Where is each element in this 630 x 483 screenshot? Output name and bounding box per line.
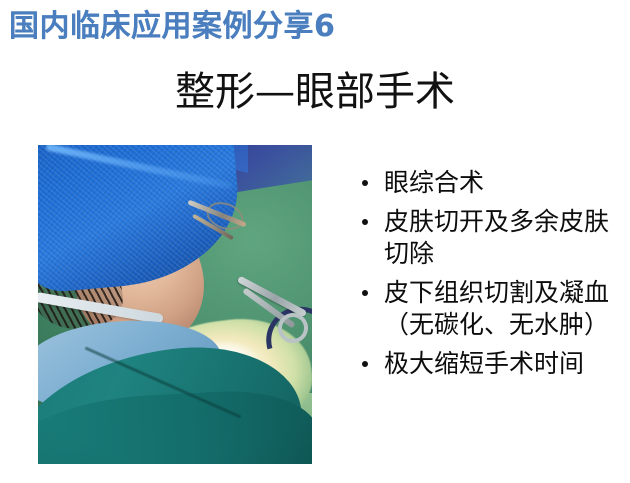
photo-vignette [38,145,312,464]
bullet-text: 皮肤切开及多余皮肤切除 [384,207,609,268]
list-item: 极大缩短手术时间 [356,348,630,380]
surgery-photo [38,145,312,464]
slide-canvas: 国内临床应用案例分享6 整形—眼部手术 [0,0,630,483]
bullet-list: 眼综合术 皮肤切开及多余皮肤切除 皮下组织切割及凝血（无碳化、无水肿） 极大缩短… [356,167,630,387]
bullet-text: 眼综合术 [384,168,484,197]
list-item: 眼综合术 [356,167,630,199]
page-title: 整形—眼部手术 [0,68,630,116]
bullet-text: 极大缩短手术时间 [384,349,584,378]
bullet-dot-icon [362,361,368,367]
slide-header: 国内临床应用案例分享6 [9,7,439,47]
bullet-dot-icon [362,219,368,225]
list-item: 皮肤切开及多余皮肤切除 [356,206,630,270]
bullet-dot-icon [362,180,368,186]
bullet-text: 皮下组织切割及凝血（无碳化、无水肿） [384,278,609,339]
bullet-dot-icon [362,290,368,296]
list-item: 皮下组织切割及凝血（无碳化、无水肿） [356,277,630,341]
header-title: 国内临床应用案例分享6 [9,12,335,42]
